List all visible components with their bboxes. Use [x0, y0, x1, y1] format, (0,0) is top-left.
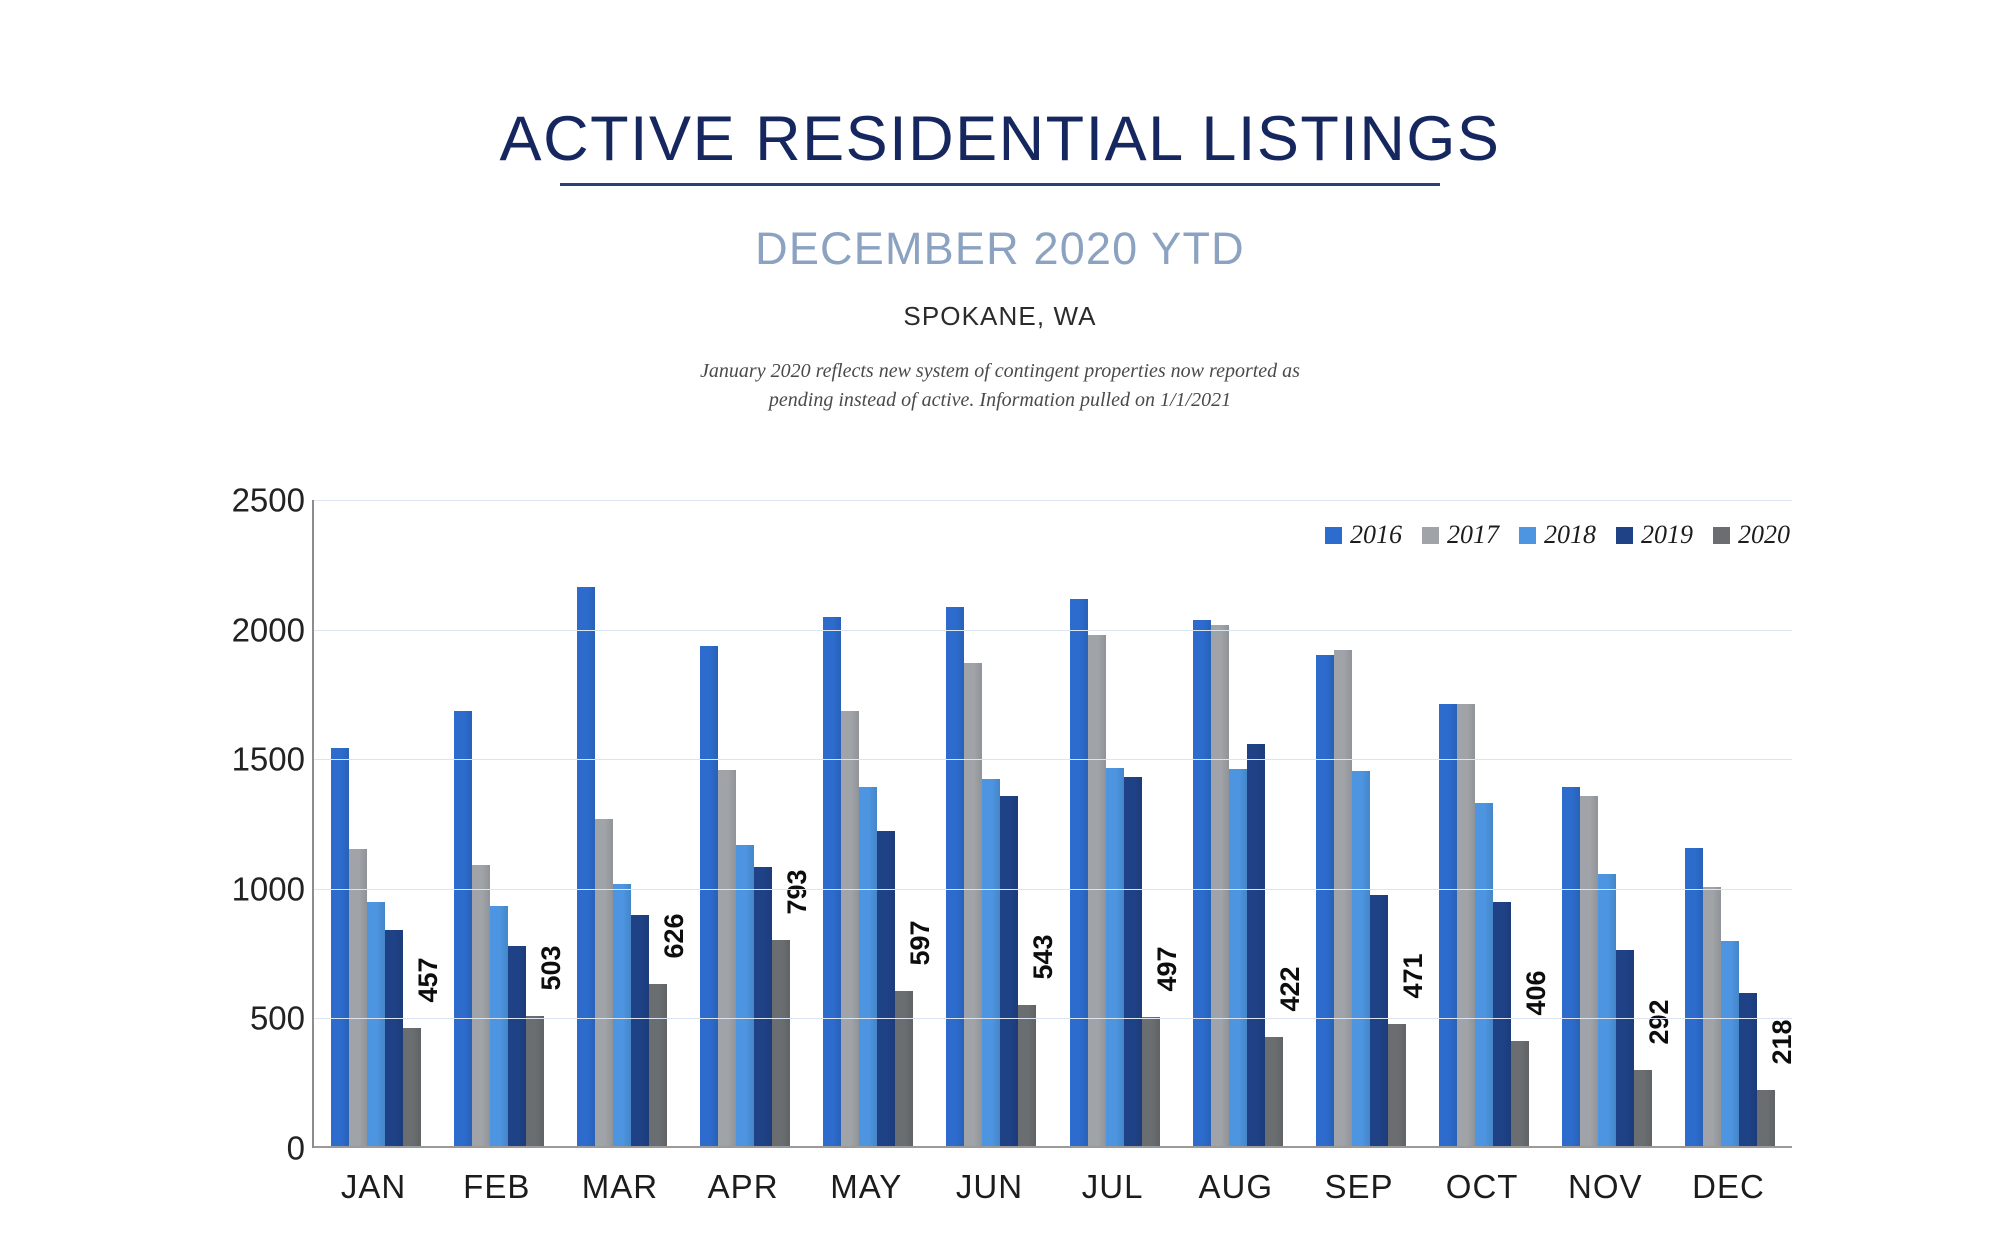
x-tick-label-jan: JAN: [312, 1170, 435, 1203]
bar-group-feb: 503: [437, 500, 560, 1146]
legend-swatch-icon: [1325, 527, 1342, 544]
legend-swatch-icon: [1713, 527, 1730, 544]
legend-item-2018[interactable]: 2018: [1519, 522, 1596, 548]
x-tick-label-may: MAY: [805, 1170, 928, 1203]
bar-2016-sep[interactable]: [1316, 655, 1334, 1146]
chart-plot-wrapper: 5001000150020002500 0 201620172018201920…: [0, 480, 2000, 1250]
bar-2018-dec[interactable]: [1721, 941, 1739, 1146]
title-underline: [560, 183, 1440, 186]
bar-2018-apr[interactable]: [736, 845, 754, 1146]
bar-group-jul: 497: [1053, 500, 1176, 1146]
x-axis-labels: JANFEBMARAPRMAYJUNJULAUGSEPOCTNOVDEC: [312, 1170, 1790, 1203]
bar-2016-jun[interactable]: [946, 607, 964, 1146]
bar-group-jun: 543: [930, 500, 1053, 1146]
legend-label: 2017: [1447, 522, 1499, 548]
bar-2017-mar[interactable]: [595, 819, 613, 1146]
legend-label: 2019: [1641, 522, 1693, 548]
bar-2019-aug[interactable]: [1247, 744, 1265, 1146]
bar-2016-jan[interactable]: [331, 748, 349, 1146]
bar-2017-apr[interactable]: [718, 770, 736, 1146]
legend-label: 2018: [1544, 522, 1596, 548]
gridline: [314, 889, 1792, 890]
bar-2016-oct[interactable]: [1439, 704, 1457, 1146]
chart-note-line-2: pending instead of active. Information p…: [0, 386, 2000, 415]
bar-2016-feb[interactable]: [454, 711, 472, 1146]
bar-2020-may[interactable]: 597: [895, 991, 913, 1146]
bar-group-dec: 218: [1669, 500, 1792, 1146]
bar-2020-nov[interactable]: 292: [1634, 1070, 1652, 1146]
bar-2018-aug[interactable]: [1229, 769, 1247, 1146]
x-tick-label-jul: JUL: [1051, 1170, 1174, 1203]
x-tick-label-nov: NOV: [1544, 1170, 1667, 1203]
x-tick-label-sep: SEP: [1297, 1170, 1420, 1203]
x-tick-label-mar: MAR: [558, 1170, 681, 1203]
bar-2017-aug[interactable]: [1211, 625, 1229, 1146]
bar-value-label: 597: [877, 965, 904, 1010]
bar-2020-oct[interactable]: 406: [1511, 1041, 1529, 1146]
chart-note: January 2020 reflects new system of cont…: [0, 357, 2000, 415]
bar-value-label: 457: [385, 1001, 412, 1046]
bar-group-mar: 626: [560, 500, 683, 1146]
y-tick-label: 2500: [232, 484, 305, 517]
bar-group-oct: 406: [1423, 500, 1546, 1146]
chart-location: SPOKANE, WA: [0, 303, 2000, 329]
legend-swatch-icon: [1519, 527, 1536, 544]
bar-2017-jun[interactable]: [964, 663, 982, 1146]
x-tick-label-jun: JUN: [928, 1170, 1051, 1203]
bar-2016-jul[interactable]: [1070, 599, 1088, 1146]
bar-2016-aug[interactable]: [1193, 620, 1211, 1146]
x-tick-label-apr: APR: [682, 1170, 805, 1203]
bar-value-label: 292: [1616, 1044, 1643, 1089]
bar-value-text: 218: [1769, 1019, 1796, 1064]
y-tick-label: 2000: [232, 613, 305, 646]
bar-2018-may[interactable]: [859, 787, 877, 1146]
bar-2020-dec[interactable]: 218: [1757, 1090, 1775, 1147]
bar-2020-jan[interactable]: 457: [403, 1028, 421, 1146]
bar-2020-aug[interactable]: 422: [1265, 1037, 1283, 1146]
bar-2020-mar[interactable]: 626: [649, 984, 667, 1146]
bar-2020-sep[interactable]: 471: [1388, 1024, 1406, 1146]
bar-value-label: 793: [754, 914, 781, 959]
legend-label: 2020: [1738, 522, 1790, 548]
bar-value-label: 422: [1247, 1010, 1274, 1055]
y-axis: 5001000150020002500: [200, 480, 305, 1130]
bar-2020-jun[interactable]: 543: [1018, 1005, 1036, 1146]
bar-value-label: 497: [1124, 991, 1151, 1036]
bar-2016-mar[interactable]: [577, 587, 595, 1146]
bar-2017-jul[interactable]: [1088, 635, 1106, 1146]
bar-2017-may[interactable]: [841, 711, 859, 1146]
bar-group-jan: 457: [314, 500, 437, 1146]
plot-area: 20162017201820192020 4575036267935975434…: [312, 500, 1792, 1148]
y-tick-label: 1000: [232, 872, 305, 905]
y-tick-label: 500: [250, 1002, 305, 1035]
x-tick-label-dec: DEC: [1667, 1170, 1790, 1203]
bar-2017-oct[interactable]: [1457, 704, 1475, 1146]
bar-2018-mar[interactable]: [613, 884, 631, 1146]
bar-2019-apr[interactable]: [754, 867, 772, 1146]
bar-2017-feb[interactable]: [472, 865, 490, 1146]
bar-2017-dec[interactable]: [1703, 887, 1721, 1146]
bar-2019-feb[interactable]: [508, 946, 526, 1146]
legend-label: 2016: [1350, 522, 1402, 548]
x-axis-line: [314, 1146, 1792, 1148]
bar-2017-sep[interactable]: [1334, 650, 1352, 1146]
bar-2018-sep[interactable]: [1352, 771, 1370, 1146]
legend-item-2019[interactable]: 2019: [1616, 522, 1693, 548]
bar-group-apr: 793: [684, 500, 807, 1146]
x-tick-label-aug: AUG: [1174, 1170, 1297, 1203]
bar-groups: 457503626793597543497422471406292218: [314, 500, 1792, 1146]
bar-2020-feb[interactable]: 503: [526, 1016, 544, 1146]
bar-2018-oct[interactable]: [1475, 803, 1493, 1146]
x-tick-label-feb: FEB: [435, 1170, 558, 1203]
bar-2017-nov[interactable]: [1580, 796, 1598, 1146]
bar-2018-jan[interactable]: [367, 902, 385, 1146]
y-tick-label: 1500: [232, 743, 305, 776]
bar-2016-nov[interactable]: [1562, 787, 1580, 1146]
x-tick-label-oct: OCT: [1421, 1170, 1544, 1203]
chart-subtitle: DECEMBER 2020 YTD: [0, 226, 2000, 271]
bar-2017-jan[interactable]: [349, 849, 367, 1146]
page-title: ACTIVE RESIDENTIAL LISTINGS: [500, 108, 1501, 189]
bar-2018-jul[interactable]: [1106, 768, 1124, 1146]
bar-group-aug: 422: [1176, 500, 1299, 1146]
chart-note-line-1: January 2020 reflects new system of cont…: [0, 357, 2000, 386]
bar-2019-jun[interactable]: [1000, 796, 1018, 1146]
bar-group-nov: 292: [1546, 500, 1669, 1146]
bar-value-label: 406: [1493, 1014, 1520, 1059]
y-tick-zero: 0: [200, 1132, 305, 1165]
legend-item-2020[interactable]: 2020: [1713, 522, 1790, 548]
bar-2018-jun[interactable]: [982, 779, 1000, 1146]
bar-value-label: 218: [1739, 1063, 1766, 1108]
bar-2020-apr[interactable]: 793: [772, 940, 790, 1146]
bar-2020-jul[interactable]: 497: [1142, 1017, 1160, 1146]
gridline: [314, 500, 1792, 501]
bar-2019-jul[interactable]: [1124, 777, 1142, 1146]
bar-value-label: 626: [631, 957, 658, 1002]
bar-2018-nov[interactable]: [1598, 874, 1616, 1146]
bar-2016-dec[interactable]: [1685, 848, 1703, 1146]
bar-2019-mar[interactable]: [631, 915, 649, 1146]
bar-value-label: 543: [1000, 979, 1027, 1024]
bar-2018-feb[interactable]: [490, 906, 508, 1146]
legend-swatch-icon: [1422, 527, 1439, 544]
gridline: [314, 759, 1792, 760]
legend-item-2016[interactable]: 2016: [1325, 522, 1402, 548]
legend-item-2017[interactable]: 2017: [1422, 522, 1499, 548]
bar-value-label: 503: [508, 989, 535, 1034]
chart-header: ACTIVE RESIDENTIAL LISTINGS DECEMBER 202…: [0, 0, 2000, 415]
chart-legend: 20162017201820192020: [1325, 522, 1790, 548]
legend-swatch-icon: [1616, 527, 1633, 544]
bar-group-sep: 471: [1299, 500, 1422, 1146]
bar-group-may: 597: [807, 500, 930, 1146]
bar-value-label: 471: [1370, 997, 1397, 1042]
gridline: [314, 1018, 1792, 1019]
gridline: [314, 630, 1792, 631]
bar-2016-apr[interactable]: [700, 646, 718, 1146]
bar-2016-may[interactable]: [823, 617, 841, 1146]
